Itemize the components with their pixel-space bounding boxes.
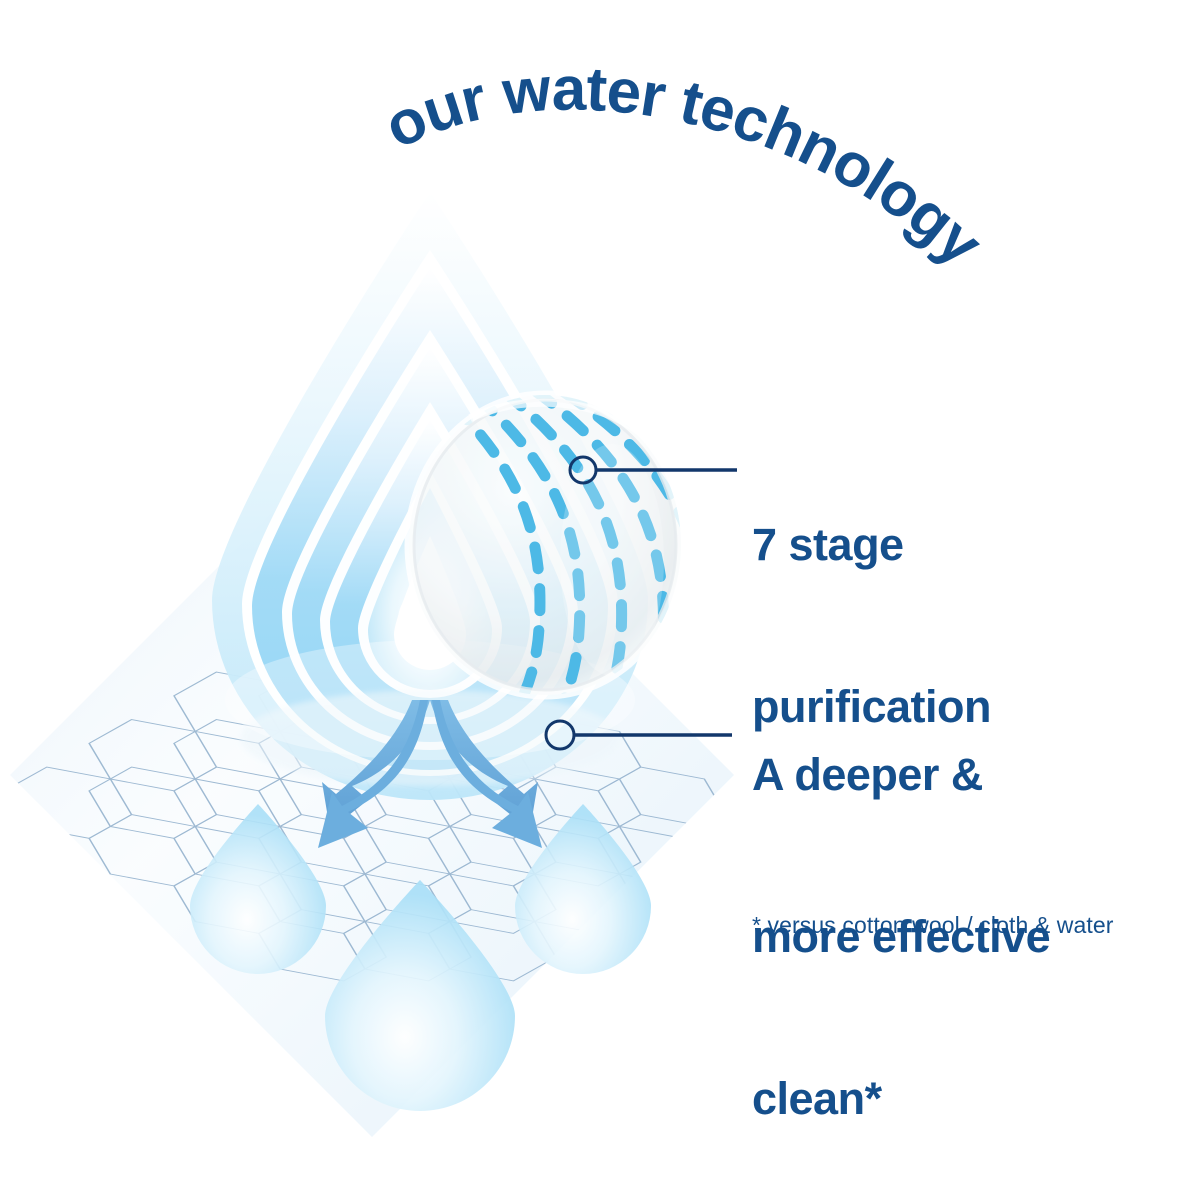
labels-layer: 7 stage purification A deeper & more eff… bbox=[0, 0, 1200, 1200]
callout-deeper-clean-line3: clean* bbox=[752, 1072, 1050, 1126]
callout-purification-line1: 7 stage bbox=[752, 518, 991, 572]
callout-deeper-clean-line1: A deeper & bbox=[752, 748, 1050, 802]
infographic-canvas: our water technology 7 stage purificatio… bbox=[0, 0, 1200, 1200]
footnote-text: * versus cotton wool / cloth & water bbox=[752, 912, 1114, 939]
